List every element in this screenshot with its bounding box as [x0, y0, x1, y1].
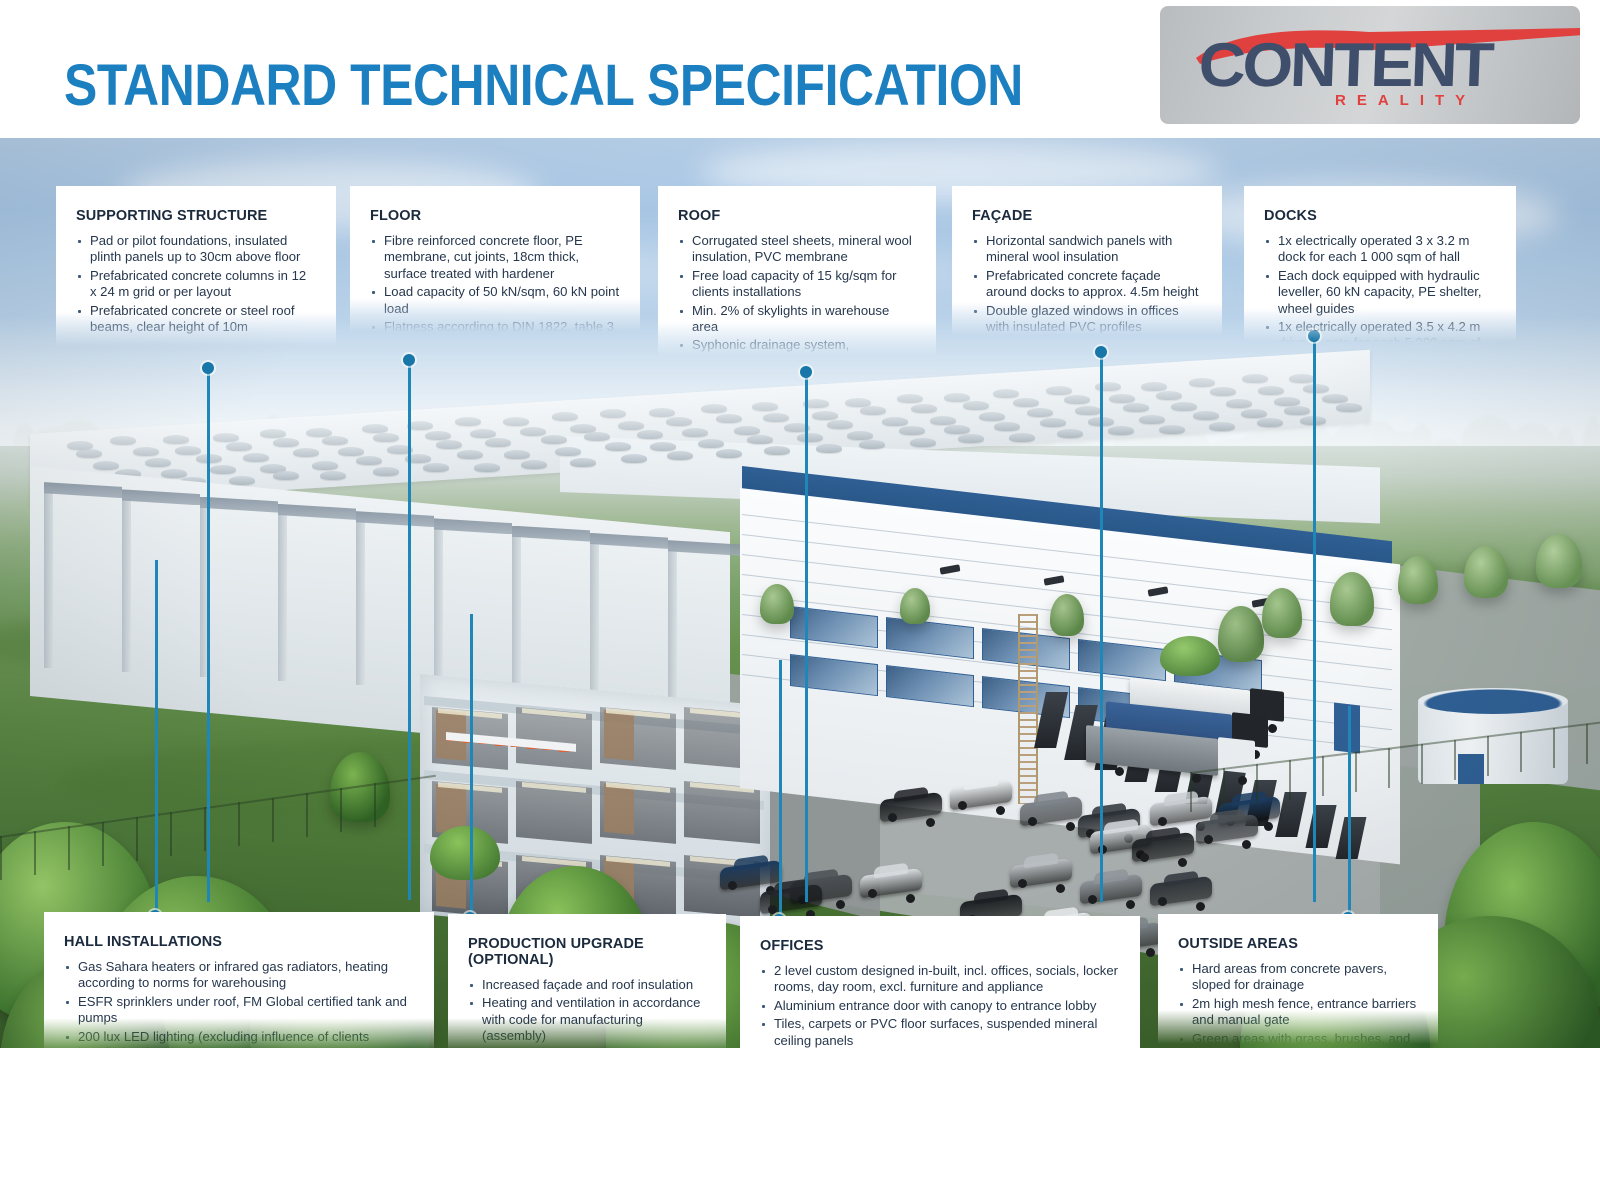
- skylight: [1108, 426, 1134, 435]
- skylight: [175, 446, 201, 455]
- skylight: [1242, 374, 1268, 383]
- skylight: [911, 404, 937, 413]
- fence-post: [1355, 752, 1357, 792]
- leader-line-floor: [408, 360, 411, 900]
- skylight: [503, 417, 529, 426]
- office-wall-panel: [604, 784, 634, 835]
- fence-post: [272, 798, 274, 842]
- skylight: [425, 431, 451, 440]
- car-wheel: [1178, 858, 1187, 867]
- fence-post: [68, 826, 70, 870]
- skylight: [1209, 422, 1235, 431]
- background-tree: [760, 584, 794, 624]
- skylight: [521, 460, 547, 469]
- skylight: [860, 406, 886, 415]
- skylight: [1057, 429, 1083, 438]
- skylight: [1027, 408, 1053, 417]
- skylight: [764, 446, 790, 455]
- callout-list-item: Double glazed windows in offices with in…: [972, 303, 1202, 336]
- callout-title: OUTSIDE AREAS: [1178, 936, 1418, 952]
- skylight: [362, 424, 388, 433]
- skylight: [210, 465, 236, 474]
- skylight: [963, 401, 989, 410]
- hedge: [430, 826, 500, 880]
- callout-list-item: Min. 2% of skylights in warehouse area: [678, 303, 916, 336]
- skylight: [1156, 391, 1182, 400]
- bottom-white-margin: [0, 1048, 1600, 1200]
- truck-grey-wheel: [1192, 774, 1201, 783]
- callout-docks: DOCKS 1x electrically operated 3 x 3.2 m…: [1244, 186, 1516, 342]
- callout-facade: FAÇADE Horizontal sandwich panels with m…: [952, 186, 1222, 336]
- skylight: [93, 461, 119, 470]
- skylight: [1064, 395, 1090, 404]
- skylight: [474, 463, 500, 472]
- callout-list-item: Aluminium entrance door with canopy to e…: [760, 998, 1120, 1014]
- skylight: [1284, 406, 1310, 415]
- skylight: [243, 453, 269, 462]
- callout-list-item: Corrugated steel sheets, mineral wool in…: [678, 233, 916, 266]
- skylight: [994, 422, 1020, 431]
- callout-list-item: Prefabricated concrete façade around doc…: [972, 268, 1202, 301]
- skylight: [373, 467, 399, 476]
- fence-post: [170, 812, 172, 856]
- specification-poster: STANDARD TECHNICAL SPECIFICATION CONTENT…: [0, 0, 1600, 1200]
- background-tree: [1398, 556, 1438, 604]
- truck-grey-wheel: [1115, 767, 1124, 776]
- skylight: [1210, 387, 1236, 396]
- background-tree: [1050, 594, 1084, 636]
- fence-post: [238, 802, 240, 846]
- callout-list-item: 2 level custom designed in-built, incl. …: [760, 963, 1120, 996]
- skylight: [1274, 397, 1300, 406]
- callout-list-item: Gas Sahara heaters or infrared gas radia…: [64, 959, 414, 992]
- callout-title: DOCKS: [1264, 208, 1496, 224]
- fence-post: [1256, 764, 1258, 804]
- skylight: [457, 450, 483, 459]
- fence-post: [1388, 748, 1390, 788]
- car-wheel: [1264, 822, 1273, 831]
- background-tree: [900, 588, 930, 624]
- skylight: [682, 428, 708, 437]
- car-wheel: [1204, 835, 1213, 844]
- skylight: [226, 442, 252, 451]
- skylight: [520, 427, 546, 436]
- leader-line-offices: [779, 660, 782, 924]
- skylight: [306, 428, 332, 437]
- car-wheel: [1146, 948, 1155, 957]
- roof-access-ladder: [1018, 614, 1038, 804]
- skylight: [847, 431, 873, 440]
- poster-header: STANDARD TECHNICAL SPECIFICATION CONTENT…: [0, 0, 1600, 138]
- skylight: [1336, 403, 1362, 412]
- leader-dot-roof: [800, 366, 812, 378]
- fence-post: [1487, 736, 1489, 776]
- fence-post: [1421, 744, 1423, 784]
- car-wheel: [1158, 817, 1167, 826]
- skylight: [1171, 402, 1197, 411]
- callout-list-item: 2m high mesh fence, entrance barriers an…: [1178, 996, 1418, 1029]
- callout-list-item: Each dock equipped with hydraulic levell…: [1264, 268, 1496, 317]
- fence-post: [1553, 728, 1555, 768]
- skylight: [667, 451, 693, 460]
- skylight: [320, 471, 346, 480]
- callout-list: Pad or pilot foundations, insulated plin…: [76, 233, 316, 335]
- car-wheel: [906, 894, 915, 903]
- fence-post: [374, 783, 376, 827]
- skylight: [637, 430, 663, 439]
- skylight: [423, 463, 449, 472]
- skylight: [958, 434, 984, 443]
- skylight: [812, 411, 838, 420]
- logo-wordmark: CONTENT: [1197, 30, 1492, 101]
- skylight: [666, 417, 692, 426]
- skylight: [701, 404, 727, 413]
- tank-roof: [1418, 688, 1568, 714]
- skylight: [1241, 409, 1267, 418]
- skylight: [1009, 433, 1035, 442]
- skylight: [1075, 406, 1101, 415]
- concrete-column: [122, 499, 131, 672]
- callout-supporting-structure: SUPPORTING STRUCTURE Pad or pilot founda…: [56, 186, 336, 346]
- skylight: [1013, 398, 1039, 407]
- car-wheel: [1088, 895, 1097, 904]
- callout-floor: FLOOR Fibre reinforced concrete floor, P…: [350, 186, 640, 332]
- fence-post: [1322, 756, 1324, 796]
- callout-list-item: Load capacity of 50 kN/sqm, 60 kN point …: [370, 284, 620, 317]
- skylight: [1159, 425, 1185, 434]
- skylight: [163, 435, 189, 444]
- skylight: [145, 458, 171, 467]
- fence-post: [1520, 732, 1522, 772]
- page-title: STANDARD TECHNICAL SPECIFICATION: [64, 52, 1023, 119]
- car-wheel: [868, 889, 877, 898]
- skylight: [541, 435, 567, 444]
- callout-hall-installations: HALL INSTALLATIONS Gas Sahara heaters or…: [44, 912, 434, 1052]
- skylight: [373, 433, 399, 442]
- callout-production-upgrade: PRODUCTION UPGRADE (OPTIONAL) Increased …: [448, 914, 726, 1052]
- skylight: [1139, 415, 1165, 424]
- skylight: [1123, 403, 1149, 412]
- callout-list-item: Prefabricated concrete columns in 12 x 2…: [76, 268, 316, 301]
- leader-dot-floor: [403, 354, 415, 366]
- concrete-column: [434, 528, 443, 689]
- car-wheel: [1242, 840, 1251, 849]
- skylight: [322, 436, 348, 445]
- tank-door: [1458, 754, 1484, 784]
- skylight: [859, 440, 885, 449]
- callout-list-item: Free load capacity of 15 kg/sqm for clie…: [678, 268, 916, 301]
- skylight: [979, 412, 1005, 421]
- skylight: [752, 402, 778, 411]
- concrete-column: [668, 550, 677, 702]
- callout-list-item: Tiles, carpets or PVC floor surfaces, su…: [760, 1016, 1120, 1049]
- callout-list-item: ESFR sprinklers under roof, FM Global ce…: [64, 994, 414, 1027]
- callout-list-item: Prefabricated concrete or steel roof bea…: [76, 303, 316, 336]
- car-wheel: [728, 881, 737, 890]
- skylight: [716, 449, 742, 458]
- concrete-column: [356, 521, 365, 685]
- concrete-column: [44, 492, 53, 668]
- skylight: [1040, 418, 1066, 427]
- car-wheel: [1126, 900, 1135, 909]
- skylight: [293, 448, 319, 457]
- callout-outside-areas: OUTSIDE AREAS Hard areas from concrete p…: [1158, 914, 1438, 1044]
- skylight: [716, 414, 742, 423]
- car-wheel: [1196, 902, 1205, 911]
- callout-title: FAÇADE: [972, 208, 1202, 224]
- callout-list: Corrugated steel sheets, mineral wool in…: [678, 233, 916, 370]
- skylight: [161, 469, 187, 478]
- skylight: [436, 440, 462, 449]
- fence-post: [1289, 760, 1291, 800]
- skylight: [584, 432, 610, 441]
- callout-title: PRODUCTION UPGRADE (OPTIONAL): [468, 936, 706, 968]
- skylight: [76, 449, 102, 458]
- concrete-column: [278, 514, 287, 681]
- skylight: [734, 426, 760, 435]
- fence-post: [306, 793, 308, 837]
- leader-line-roof: [805, 372, 808, 902]
- callout-list-item: Fibre reinforced concrete floor, PE memb…: [370, 233, 620, 282]
- fence-post: [1223, 768, 1225, 808]
- skylight: [910, 438, 936, 447]
- callout-title: OFFICES: [760, 938, 1120, 954]
- skylight: [944, 425, 970, 434]
- skylight: [816, 444, 842, 453]
- leader-line-hall-installations: [155, 560, 158, 920]
- personnel-door: [1334, 702, 1360, 753]
- car-wheel: [1066, 822, 1075, 831]
- skylight: [1322, 394, 1348, 403]
- skylight: [570, 458, 596, 467]
- fence-post: [1190, 772, 1192, 812]
- fence-post: [136, 817, 138, 861]
- leader-line-production-upgrade: [470, 614, 473, 922]
- skylight: [930, 416, 956, 425]
- skylight: [698, 439, 724, 448]
- skylight: [993, 389, 1019, 398]
- leader-line-facade: [1100, 352, 1103, 902]
- fence-post: [0, 836, 2, 880]
- skylight: [504, 450, 530, 459]
- company-logo: CONTENT REALITY: [1160, 6, 1580, 124]
- car-wheel: [1018, 879, 1027, 888]
- skylight: [455, 417, 481, 426]
- car-wheel: [1140, 853, 1149, 862]
- fence-post: [340, 788, 342, 832]
- skylight: [260, 429, 286, 438]
- skylight: [229, 476, 255, 485]
- callout-list-item: Increased façade and roof insulation: [468, 977, 706, 993]
- office-wall-panel: [604, 710, 634, 761]
- skylight: [1046, 386, 1072, 395]
- leader-line-docks: [1313, 336, 1316, 902]
- car-wheel: [888, 813, 897, 822]
- skylight: [485, 438, 511, 447]
- concrete-column: [590, 543, 599, 698]
- skylight: [213, 433, 239, 442]
- skylight: [618, 421, 644, 430]
- skylight: [1109, 394, 1135, 403]
- truck-grey-wheel: [1238, 776, 1247, 785]
- skylight: [899, 426, 925, 435]
- skylight: [747, 435, 773, 444]
- callout-title: FLOOR: [370, 208, 620, 224]
- skylight: [1193, 411, 1219, 420]
- skylight: [555, 447, 581, 456]
- skylight: [882, 417, 908, 426]
- fence-post: [34, 831, 36, 875]
- skylight: [649, 408, 675, 417]
- skylight: [470, 429, 496, 438]
- skylight: [1189, 378, 1215, 387]
- skylight: [1226, 399, 1252, 408]
- skylight: [338, 447, 364, 456]
- hedge: [1160, 636, 1220, 676]
- skylight: [1141, 382, 1167, 391]
- fence-post: [102, 822, 104, 866]
- callout-list: Horizontal sandwich panels with mineral …: [972, 233, 1202, 335]
- car-wheel: [1158, 897, 1167, 906]
- skylight: [1257, 418, 1283, 427]
- skylight: [356, 456, 382, 465]
- car-wheel: [996, 806, 1005, 815]
- car-wheel: [1028, 817, 1037, 826]
- leader-dot-facade: [1095, 346, 1107, 358]
- fence-post: [1454, 740, 1456, 780]
- callout-list-item: Horizontal sandwich panels with mineral …: [972, 233, 1202, 266]
- callout-roof: ROOF Corrugated steel sheets, mineral wo…: [658, 186, 936, 356]
- leader-line-supporting-structure: [207, 368, 210, 902]
- leader-dot-supporting-structure: [202, 362, 214, 374]
- car-wheel: [926, 818, 935, 827]
- skylight: [1258, 386, 1284, 395]
- skylight: [650, 442, 676, 451]
- skylight: [110, 436, 136, 445]
- leader-line-outside-areas: [1348, 706, 1351, 922]
- callout-list-item: Heating and ventilation in accordance wi…: [468, 995, 706, 1044]
- callout-list-item: 1x electrically operated 3 x 3.2 m dock …: [1264, 233, 1496, 266]
- car-wheel: [836, 900, 845, 909]
- skylight: [1095, 382, 1121, 391]
- callout-title: HALL INSTALLATIONS: [64, 934, 414, 950]
- skylight: [944, 393, 970, 402]
- callout-title: ROOF: [678, 208, 916, 224]
- truck-white-wheel: [1268, 724, 1277, 733]
- skylight: [133, 447, 159, 456]
- skylight: [621, 454, 647, 463]
- callout-title: SUPPORTING STRUCTURE: [76, 208, 316, 224]
- skylight: [273, 438, 299, 447]
- skylight: [273, 471, 299, 480]
- fence-post: [1586, 724, 1588, 764]
- concrete-column: [512, 536, 521, 694]
- callout-list-item: Pad or pilot foundations, insulated plin…: [76, 233, 316, 266]
- skylight: [605, 442, 631, 451]
- fence-post: [204, 807, 206, 851]
- skylight: [763, 413, 789, 422]
- skylight: [797, 433, 823, 442]
- car-wheel: [958, 801, 967, 810]
- callout-list-item: Hard areas from concrete pavers, sloped …: [1178, 961, 1418, 994]
- skylight: [1289, 374, 1315, 383]
- logo-tagline: REALITY: [1335, 92, 1476, 109]
- skylight: [897, 394, 923, 403]
- car-wheel: [1056, 884, 1065, 893]
- car-wheel: [768, 905, 777, 914]
- skylight: [312, 461, 338, 470]
- skylight: [827, 420, 853, 429]
- skylight: [600, 409, 626, 418]
